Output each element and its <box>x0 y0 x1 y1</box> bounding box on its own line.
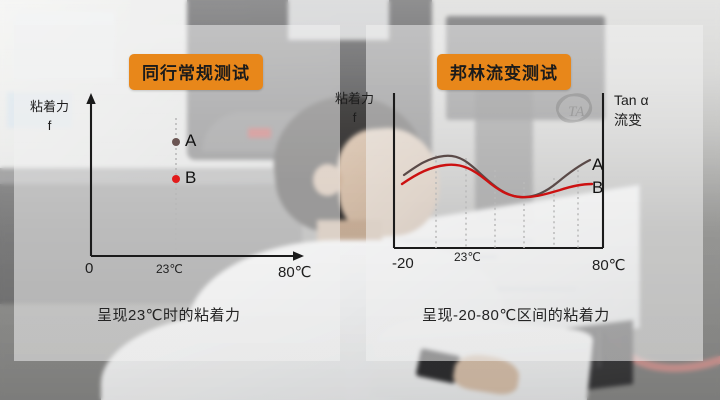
right-chart-xtick-80c: 80℃ <box>592 256 626 274</box>
right-chart-series-b-label: B <box>592 178 603 198</box>
right-chart-curve-b <box>402 165 592 197</box>
right-chart-xtick-minus20: -20 <box>392 255 414 272</box>
right-chart-y-axis-label-right-line1: Tan α <box>614 90 649 110</box>
right-chart-series-a-label: A <box>592 155 603 175</box>
ta-watermark-icon: TA <box>553 89 595 128</box>
right-chart-graphics: TA <box>0 0 720 400</box>
right-chart-y-axis-label-right: Tan α 流变 <box>614 90 649 131</box>
right-chart-y-axis-label-left: 粘着力 f <box>335 90 374 128</box>
right-chart-y-axis-label-left-line1: 粘着力 <box>335 90 374 109</box>
right-chart-y-axis-label-left-line2: f <box>335 109 374 128</box>
right-chart-curve-a <box>404 156 590 197</box>
svg-text:TA: TA <box>568 104 585 120</box>
right-panel-caption: 呈现-20-80℃区间的粘着力 <box>422 304 610 325</box>
right-chart-y-axis-label-right-line2: 流变 <box>614 110 649 130</box>
right-chart-gridlines <box>436 155 578 248</box>
right-chart-xtick-23c: 23℃ <box>454 250 481 264</box>
